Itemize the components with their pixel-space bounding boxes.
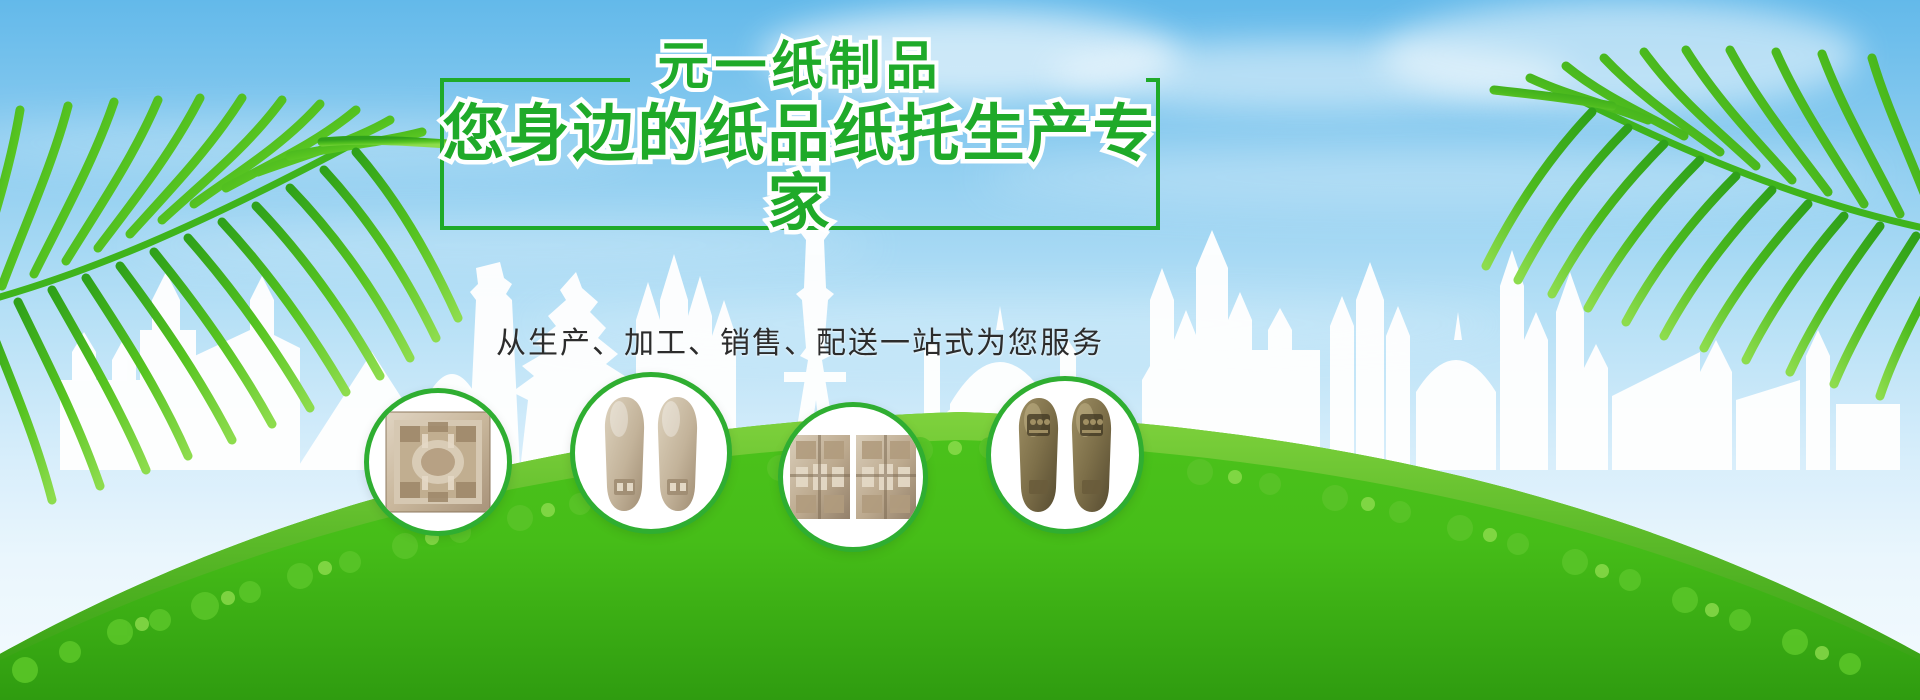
molded-pulp-corner-pair-image [789,434,917,520]
headline-line-1: 元一纸制品 [440,40,1160,95]
headline-line-2: 您身边的纸品纸托生产专家 [440,99,1160,238]
subtitle: 从生产、加工、销售、配送一站式为您服务 [440,318,1160,362]
molded-pulp-square-tray-image [384,410,492,514]
product-circle-molded-pulp-corner-pair[interactable] [778,402,928,552]
headline: 元一纸制品 您身边的纸品纸托生产专家 [440,40,1160,237]
promo-banner: 元一纸制品 您身边的纸品纸托生产专家 从生产、加工、销售、配送一站式为您服务 [0,0,1920,700]
palm-frond-icon [1360,0,1920,420]
molded-pulp-shoe-trees-dark-image [1009,394,1121,516]
product-circle-row [0,380,1920,700]
product-circle-molded-pulp-shoe-trees-light[interactable] [570,372,732,534]
product-circle-molded-pulp-square-tray[interactable] [364,388,512,536]
molded-pulp-shoe-trees-light-image [595,391,707,515]
product-circle-molded-pulp-shoe-trees-dark[interactable] [986,376,1144,534]
headline-block: 元一纸制品 您身边的纸品纸托生产专家 [440,82,1160,230]
